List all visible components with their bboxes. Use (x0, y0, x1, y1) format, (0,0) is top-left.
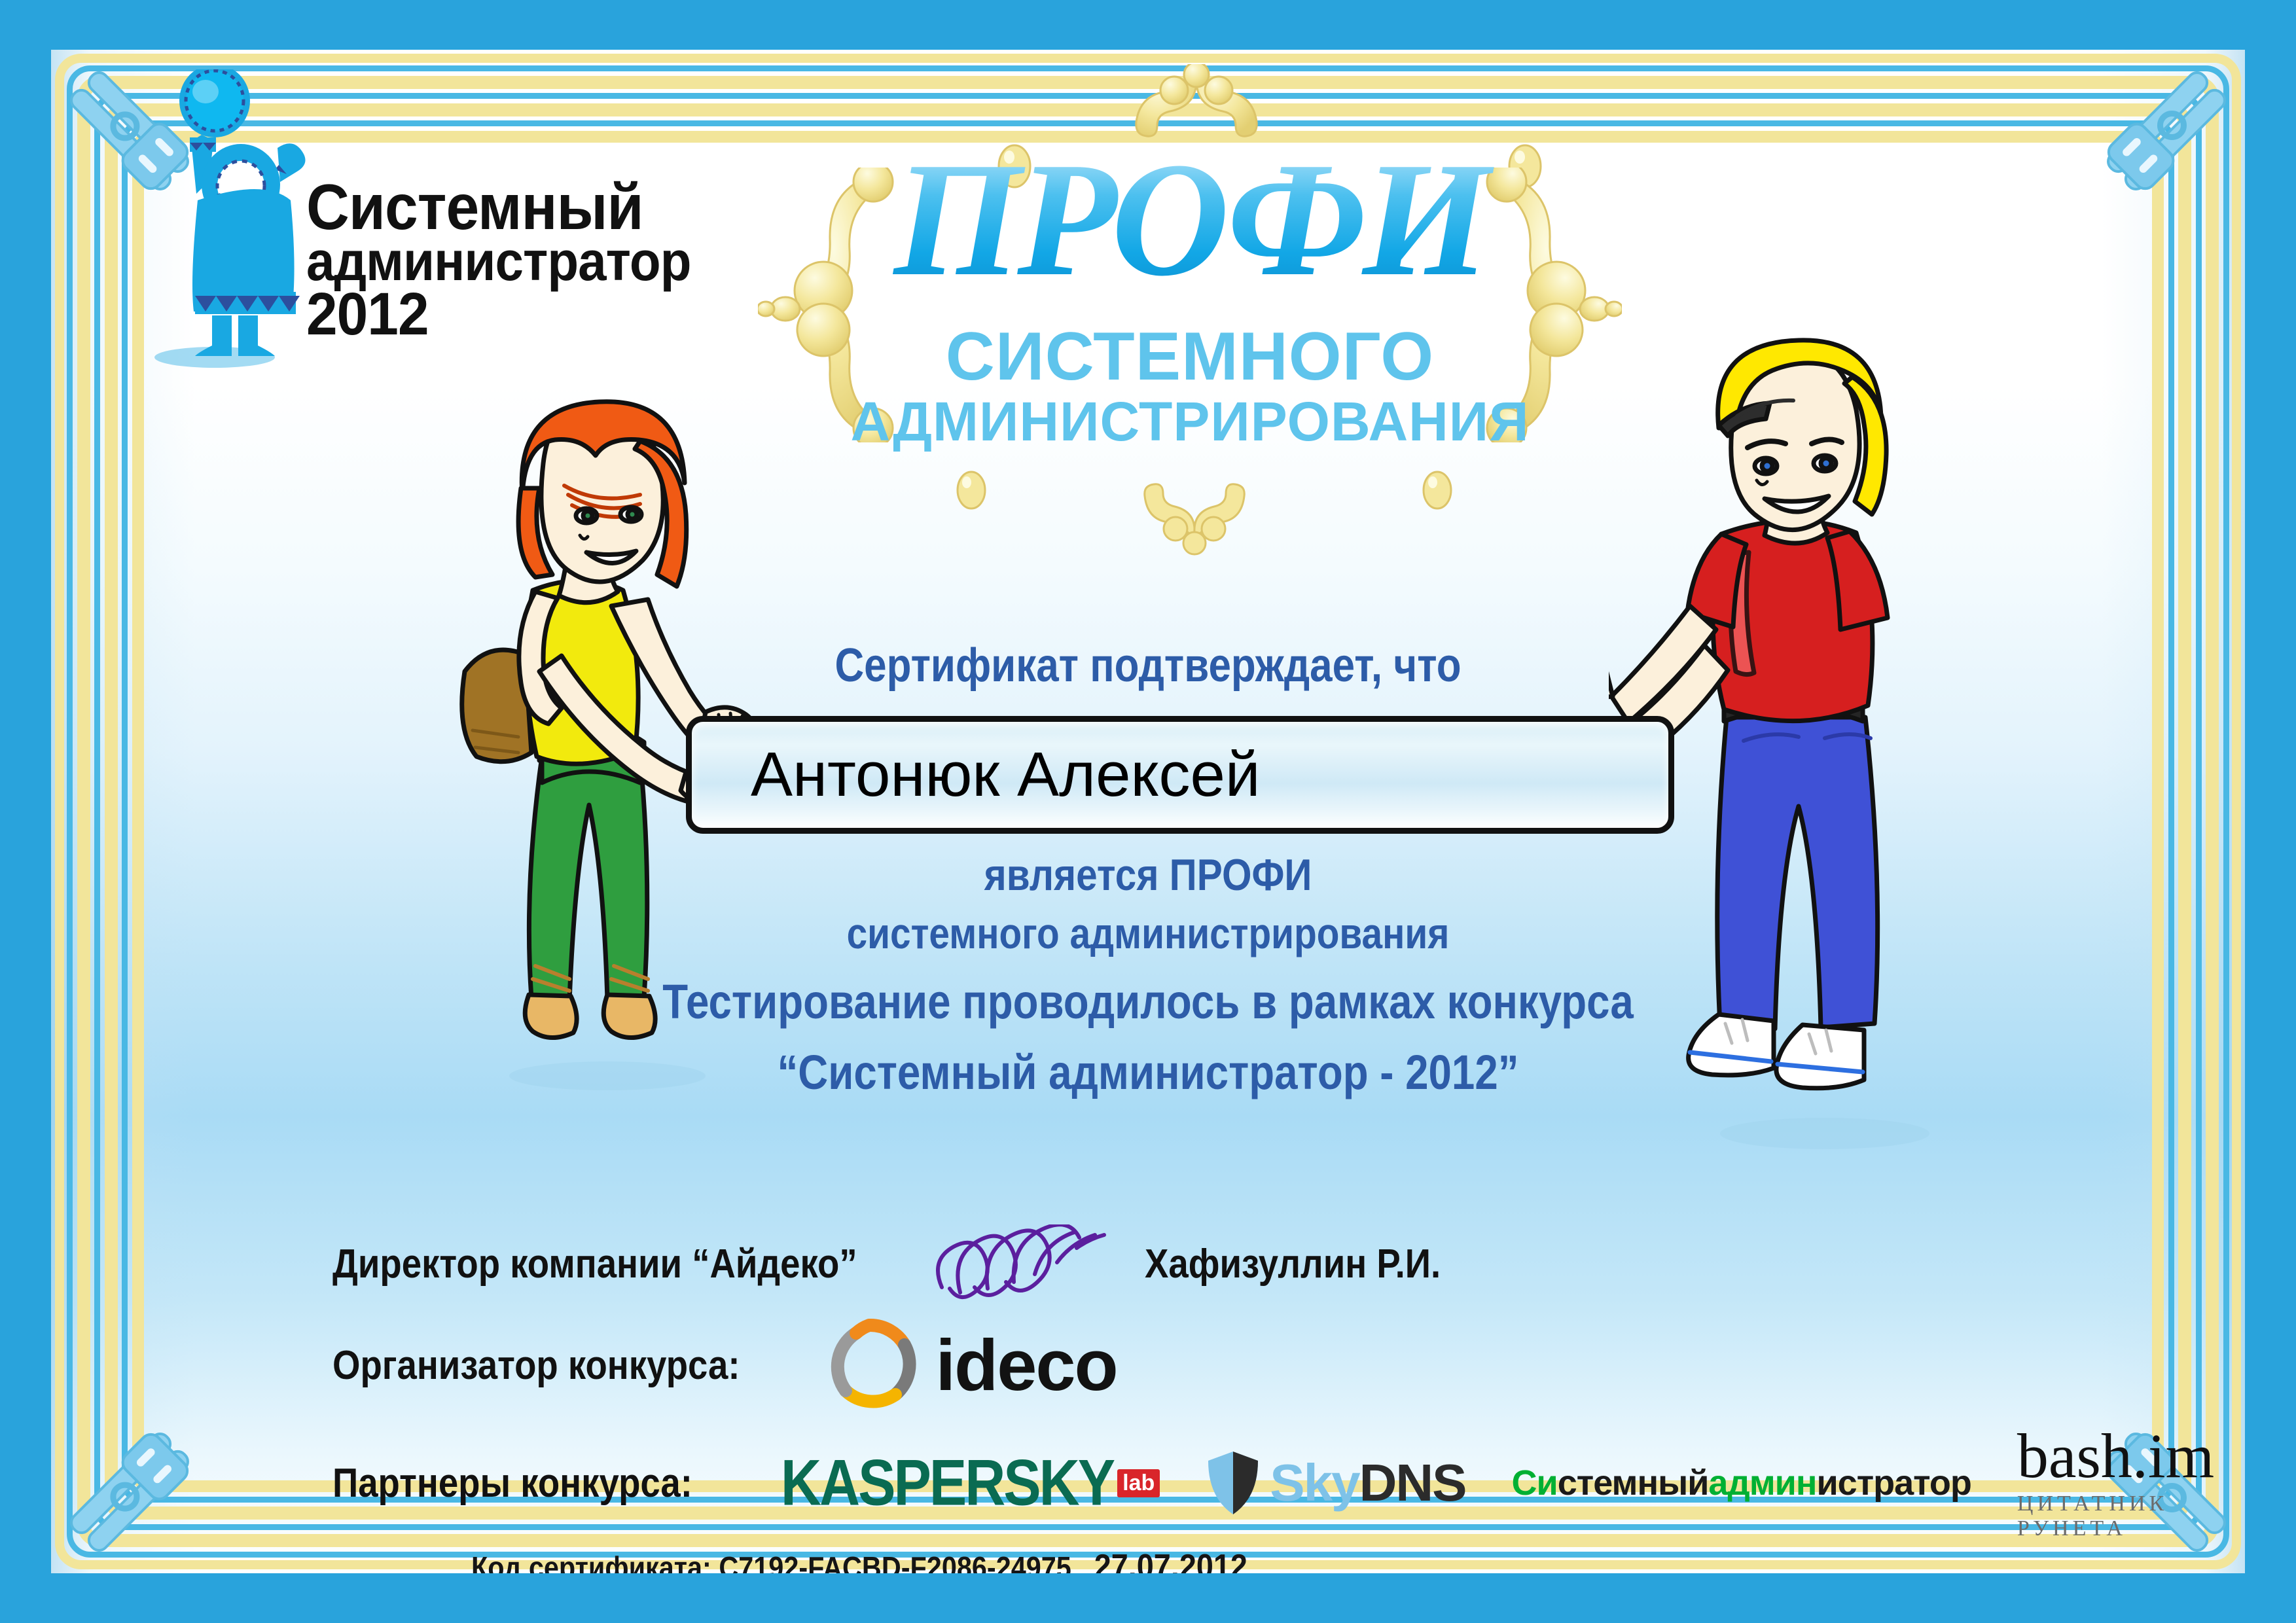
skydns-part-dns: DNS (1359, 1454, 1466, 1512)
clothespin-icon-top-right (2081, 50, 2245, 216)
profi-subtitle-1: СИСТЕМНОГО (745, 318, 1635, 396)
kaspersky-lab-logo: KASPERSKY lab (781, 1451, 1160, 1516)
certificate-testing-line: Тестирование проводилось в рамках конкур… (205, 974, 2092, 1029)
sysadmin-logo-line1: Системный (306, 177, 691, 236)
recipient-nameplate: Антонюк Алексей (686, 716, 1674, 834)
handwritten-signature-icon (922, 1224, 1119, 1303)
partners-label: Партнеры конкурса: (332, 1460, 692, 1507)
signature-row: Директор компании “Айдеко” Хафизуллин Р.… (332, 1228, 1772, 1300)
certificate-is-profi-line: является ПРОФИ (205, 849, 2092, 901)
shield-icon (1206, 1449, 1261, 1517)
signature-label: Директор компании “Айдеко” (332, 1241, 857, 1287)
kaspersky-wordmark: KASPERSKY (781, 1446, 1113, 1520)
sadmin-green-1: Си (1512, 1463, 1558, 1503)
certificate-contest-line: “Системный администратор - 2012” (205, 1044, 2092, 1100)
partners-row: Партнеры конкурса: KASPERSKY lab SkyDNS … (332, 1424, 2100, 1542)
sysadmin-logo-line3: 2012 (306, 287, 691, 342)
sysadmin-2012-logo: Системный администратор 2012 (149, 69, 738, 410)
bash-im-tagline: ЦИТАТНИК РУНЕТА (2017, 1491, 2214, 1541)
sysadmin-logo-line2: администратор (306, 236, 691, 287)
sadmin-black-2: истратор (1816, 1463, 1971, 1503)
certificate-sysadmin-line: системного администрирования (205, 908, 2092, 958)
sadmin-green-2: админ (1708, 1463, 1816, 1503)
ornament-bottom-crown (1113, 482, 1276, 560)
organizer-row: Организатор конкурса: ideco (332, 1313, 1380, 1418)
certificate-code-line: Код сертификата: C7192-FACBD-F2086-24975… (132, 1547, 1587, 1573)
sysadmin-logo-text: Системный администратор 2012 (306, 177, 720, 342)
certificate-date: 27.07.2012 (1094, 1548, 1247, 1573)
ornament-dot-bottom-left (953, 467, 990, 513)
ideco-swirl-icon (821, 1316, 920, 1414)
certificate-canvas: Системный администратор 2012 (51, 50, 2245, 1573)
sistemny-administrator-logo: Системный администратор (1512, 1468, 1971, 1498)
skydns-wordmark: SkyDNS (1270, 1453, 1465, 1513)
certificate-code-value: C7192-FACBD-F2086-24975 (719, 1550, 1071, 1573)
ideco-logo: ideco (821, 1316, 1117, 1414)
sadmin-black-1: стемный (1558, 1463, 1709, 1503)
profi-headline-block: ПРОФИ СИСТЕМНОГО АДМИНИСТРИРОВАНИЯ (745, 69, 1635, 593)
signature-name: Хафизуллин Р.И. (1145, 1241, 1441, 1287)
profi-subtitle-2: АДМИНИСТРИРОВАНИЯ (745, 390, 1635, 454)
ornament-dot-bottom-right (1419, 467, 1456, 513)
organizer-label: Организатор конкурса: (332, 1342, 740, 1389)
certificate-confirms-line: Сертификат подтверждает, что (205, 639, 2092, 692)
kaspersky-lab-badge: lab (1117, 1469, 1160, 1497)
ideco-wordmark: ideco (935, 1324, 1117, 1407)
certificate-code-label: Код сертификата: (471, 1550, 711, 1573)
bash-im-wordmark: bash.im (2017, 1425, 2214, 1488)
certificate-page: Системный администратор 2012 (0, 0, 2296, 1623)
profi-word: ПРОФИ (745, 138, 1635, 302)
skydns-part-sky: Sky (1270, 1454, 1359, 1512)
recipient-name: Антонюк Алексей (692, 739, 1261, 811)
bash-im-logo: bash.im ЦИТАТНИК РУНЕТА (2017, 1425, 2214, 1541)
skydns-logo: SkyDNS (1206, 1449, 1465, 1517)
